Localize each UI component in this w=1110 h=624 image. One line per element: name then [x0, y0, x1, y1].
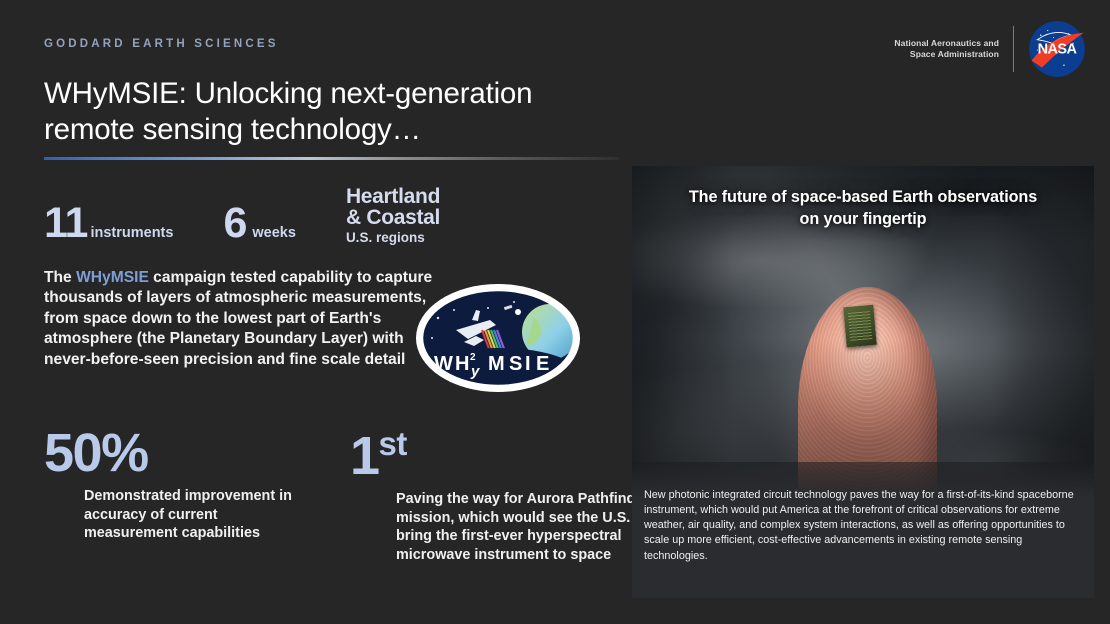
patch-letter-e: E: [536, 353, 549, 375]
stats-row: 11 instruments 6 weeks Heartland & Coast…: [44, 186, 440, 245]
kpi-first-number: 1: [350, 426, 379, 486]
whymsie-mission-patch: COAST & HEARTLAND HYPERSPECTRAL MICROWAV…: [398, 272, 598, 402]
page-title: WHyMSIE: Unlocking next-generation remot…: [44, 76, 624, 148]
patch-letter-w: W: [434, 353, 453, 375]
patch-letter-s: S: [509, 353, 522, 375]
stat-weeks: 6 weeks: [223, 202, 295, 245]
stat-regions-line2: & Coastal: [346, 207, 440, 228]
nasa-logo-text: NASA: [1038, 42, 1078, 58]
kpi-first-value: 1st: [350, 428, 600, 482]
patch-letter-i: I: [525, 353, 531, 375]
kpi-accuracy-body: Demonstrated improvement in accuracy of …: [84, 487, 296, 542]
photo-panel: The future of space-based Earth observat…: [632, 166, 1094, 598]
stat-instruments-number: 11: [44, 202, 87, 245]
kpi-first: 1st Paving the way for Aurora Pathfinder…: [348, 428, 600, 564]
stat-regions-sub: U.S. regions: [346, 231, 440, 245]
page-title-line1: WHyMSIE: Unlocking next-generation: [44, 77, 532, 110]
kpi-accuracy: 50% Demonstrated improvement in accuracy…: [44, 428, 296, 564]
lede-paragraph: The WHyMSIE campaign tested capability t…: [44, 268, 434, 370]
nasa-wordmark: National Aeronautics and Space Administr…: [894, 38, 999, 60]
eyebrow-label: GODDARD EARTH SCIENCES: [44, 38, 279, 50]
stat-instruments-unit: instruments: [90, 225, 173, 241]
title-divider: [44, 157, 619, 160]
stat-regions: Heartland & Coastal U.S. regions: [346, 186, 440, 245]
kpi-first-body: Paving the way for Aurora Pathfinder mis…: [396, 490, 658, 564]
stat-weeks-unit: weeks: [252, 225, 296, 241]
lede-prefix: The: [44, 269, 76, 286]
patch-agency-noaa: NOAA: [500, 385, 516, 391]
patch-letter-y: y: [470, 363, 480, 380]
kpi-row: 50% Demonstrated improvement in accuracy…: [44, 428, 600, 564]
nasa-wordmark-line1: National Aeronautics and: [894, 38, 999, 49]
patch-superscript: 2: [470, 352, 476, 363]
kpi-accuracy-value: 50%: [44, 428, 296, 479]
kpi-first-superscript: st: [379, 425, 407, 462]
nasa-wordmark-line2: Space Administration: [894, 49, 999, 60]
patch-letter-m: M: [488, 353, 505, 375]
panel-headline-line2: on your fingertip: [650, 208, 1076, 230]
slide: GODDARD EARTH SCIENCES National Aeronaut…: [0, 0, 1110, 624]
panel-headline: The future of space-based Earth observat…: [632, 186, 1094, 230]
stat-instruments: 11 instruments: [44, 202, 173, 245]
panel-headline-line1: The future of space-based Earth observat…: [689, 188, 1037, 206]
stat-weeks-number: 6: [223, 202, 246, 245]
lede-highlight: WHyMSIE: [76, 269, 149, 286]
nasa-lockup: National Aeronautics and Space Administr…: [894, 20, 1086, 78]
page-title-line2: remote sensing technology…: [44, 113, 421, 146]
patch-letter-h: H: [455, 353, 469, 375]
panel-caption: New photonic integrated circuit technolo…: [644, 488, 1080, 564]
lockup-divider: [1013, 26, 1014, 72]
stat-regions-line1: Heartland: [346, 186, 440, 207]
patch-agency-nasa: NASA: [470, 385, 486, 391]
mission-patch-icon: COAST & HEARTLAND HYPERSPECTRAL MICROWAV…: [398, 272, 598, 402]
nasa-meatball-icon: NASA: [1028, 20, 1086, 78]
